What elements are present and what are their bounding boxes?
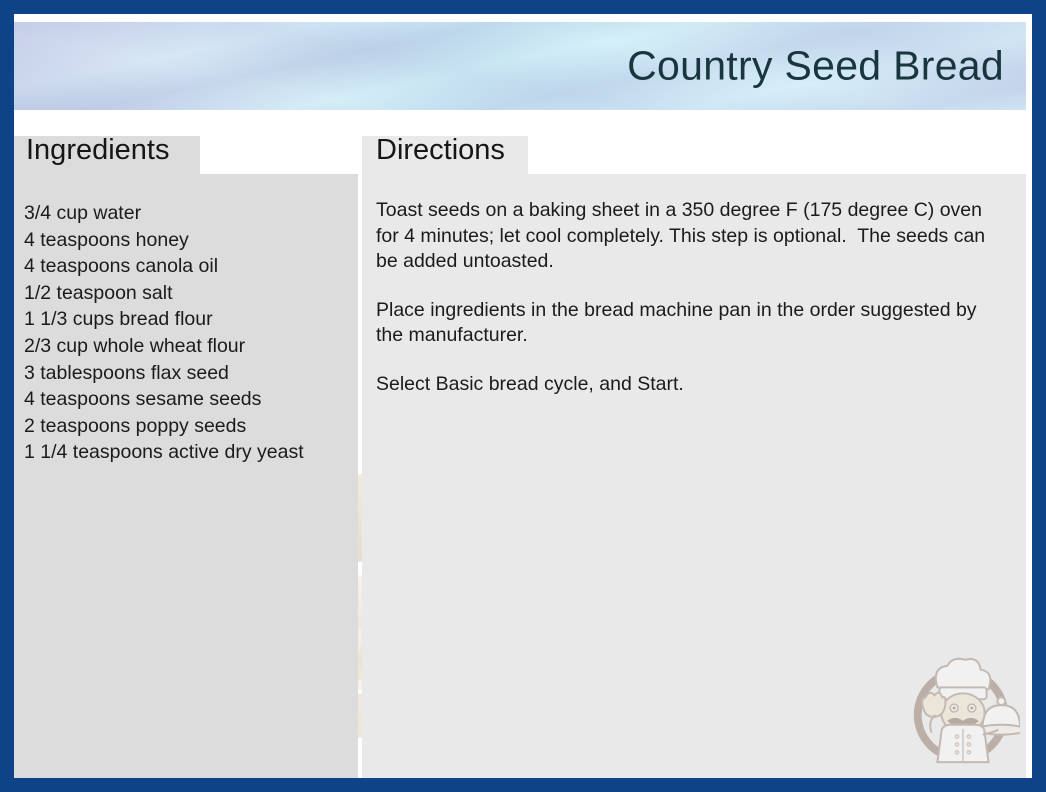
chef-with-cloche-logo: [902, 652, 1020, 770]
ingredients-panel: Ingredients 3/4 cup water 4 teaspoons ho…: [14, 136, 358, 778]
ingredients-tab-notch: [200, 136, 358, 174]
slide-canvas: Country Seed Bread: [14, 14, 1032, 778]
directions-heading: Directions: [376, 134, 505, 167]
ingredients-heading: Ingredients: [26, 134, 170, 167]
direction-paragraph: Toast seeds on a baking sheet in a 350 d…: [376, 198, 1004, 275]
page-title: Country Seed Bread: [627, 43, 1004, 90]
list-item: 1 1/3 cups bread flour: [24, 306, 348, 333]
header-banner: Country Seed Bread: [14, 22, 1026, 110]
list-item: 2/3 cup whole wheat flour: [24, 333, 348, 360]
slide-frame: Country Seed Bread: [0, 0, 1046, 792]
list-item: 1 1/4 teaspoons active dry yeast: [24, 439, 348, 466]
list-item: 1/2 teaspoon salt: [24, 280, 348, 307]
directions-body: Toast seeds on a baking sheet in a 350 d…: [362, 198, 1026, 397]
list-item: 4 teaspoons canola oil: [24, 253, 348, 280]
list-item: 3/4 cup water: [24, 200, 348, 227]
list-item: 2 teaspoons poppy seeds: [24, 413, 348, 440]
ingredients-body: 3/4 cup water 4 teaspoons honey 4 teaspo…: [14, 200, 358, 466]
direction-paragraph: Place ingredients in the bread machine p…: [376, 298, 1004, 349]
list-item: 4 teaspoons honey: [24, 227, 348, 254]
ingredients-list: 3/4 cup water 4 teaspoons honey 4 teaspo…: [24, 200, 348, 466]
list-item: 4 teaspoons sesame seeds: [24, 386, 348, 413]
list-item: 3 tablespoons flax seed: [24, 360, 348, 387]
direction-paragraph: Select Basic bread cycle, and Start.: [376, 372, 1004, 398]
directions-tab-notch: [528, 136, 1026, 174]
